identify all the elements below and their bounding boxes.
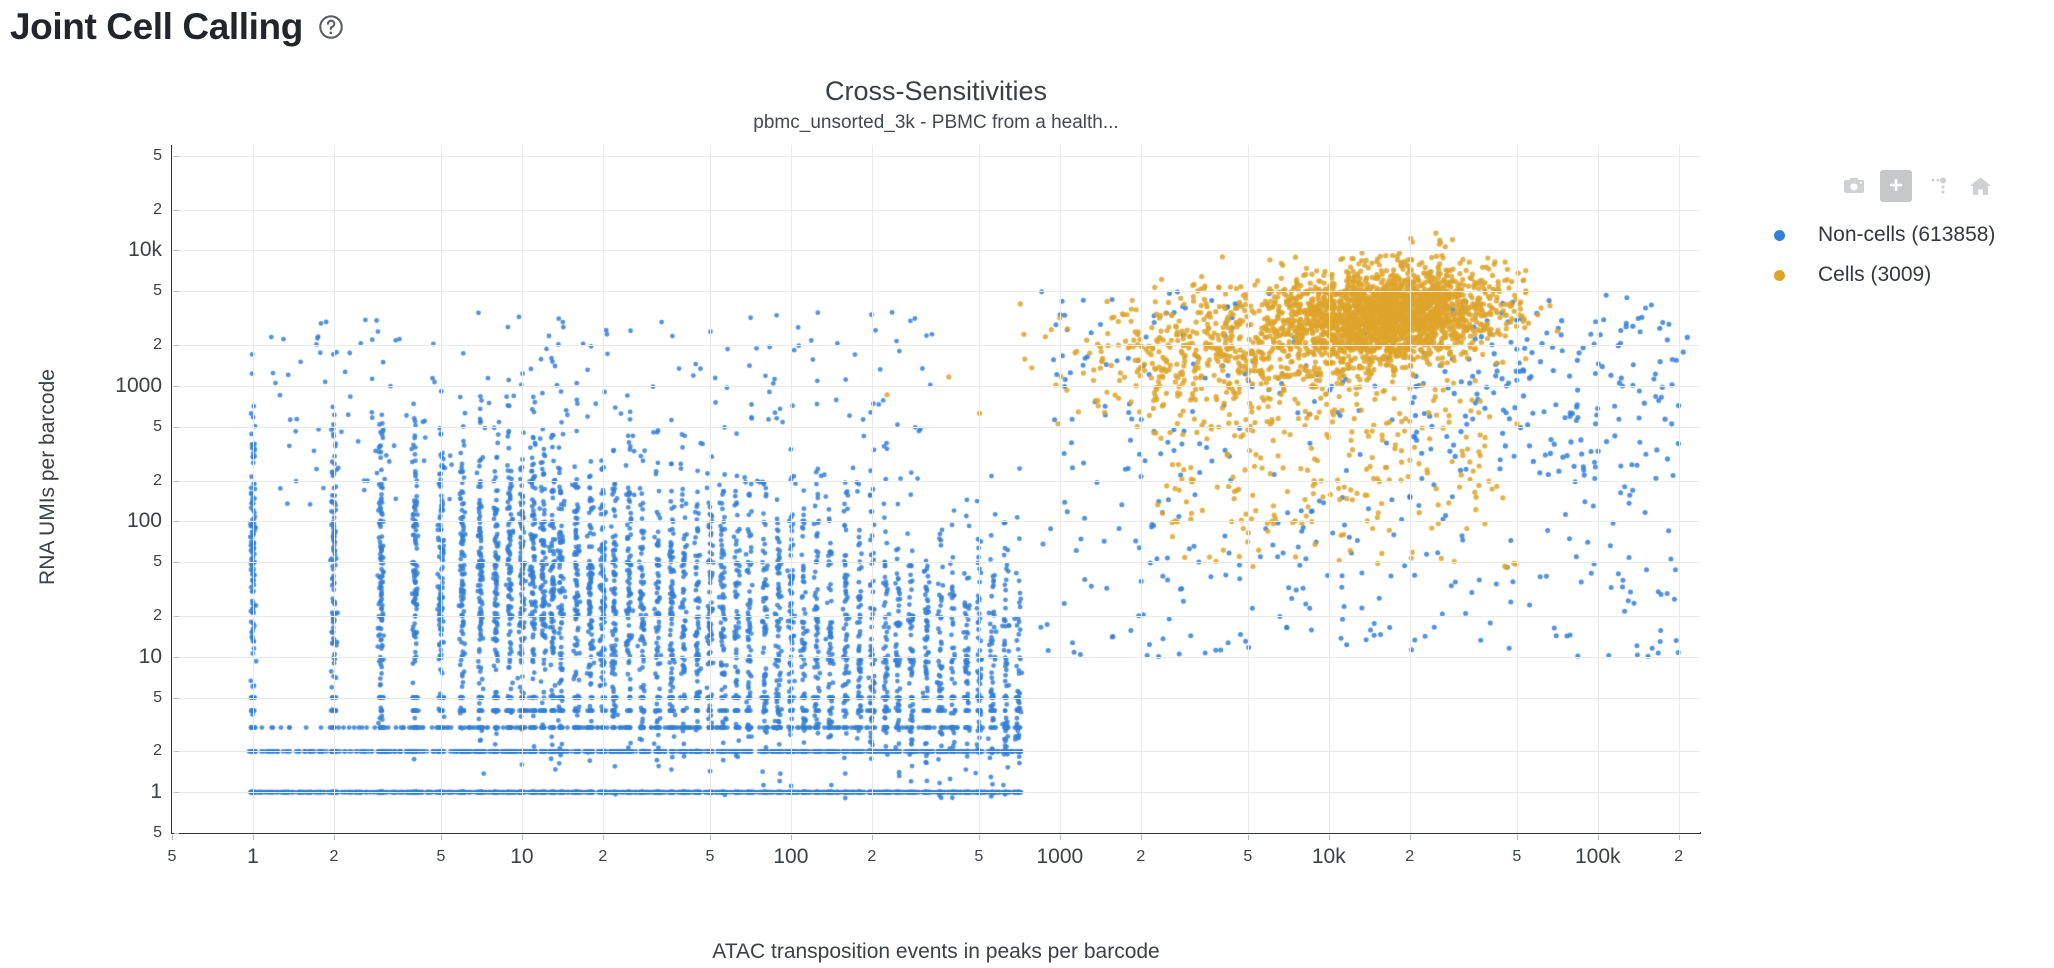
y-tick-mark (174, 345, 179, 346)
x-gridline (1410, 145, 1411, 833)
y-tick-mark (174, 427, 179, 428)
x-tick-label: 2 (598, 848, 607, 866)
y-tick-mark (174, 657, 179, 658)
x-tick-label: 5 (705, 848, 714, 866)
y-gridline (172, 698, 1700, 699)
x-tick-mark (1329, 835, 1330, 840)
page-title: Joint Cell Calling (10, 8, 303, 45)
x-tick-mark (979, 835, 980, 840)
x-tick-mark (1598, 835, 1599, 840)
x-gridline (1329, 145, 1330, 833)
plot-area[interactable] (172, 145, 1700, 833)
x-tick-mark (253, 835, 254, 840)
legend-label-cells: Cells (3009) (1818, 263, 1931, 287)
x-tick-mark (1141, 835, 1142, 840)
x-gridline (1248, 145, 1249, 833)
x-tick-label: 10 (510, 845, 533, 869)
x-tick-label: 2 (1136, 848, 1145, 866)
y-tick-mark (174, 210, 179, 211)
y-tick-mark (174, 616, 179, 617)
legend-item-cells[interactable]: Cells (3009) (1770, 255, 1995, 295)
y-tick-label: 5 (153, 824, 162, 842)
y-gridline (172, 250, 1700, 251)
y-gridline (172, 345, 1700, 346)
x-tick-label: 1 (247, 845, 259, 869)
x-tick-mark (791, 835, 792, 840)
y-tick-mark (174, 386, 179, 387)
x-tick-label: 10k (1312, 845, 1346, 869)
x-gridline (441, 145, 442, 833)
x-tick-label: 5 (437, 848, 446, 866)
legend-item-non-cells[interactable]: Non-cells (613858) (1770, 215, 1995, 255)
y-gridline (172, 751, 1700, 752)
x-gridline (1598, 145, 1599, 833)
zoom-in-button[interactable] (1880, 170, 1912, 202)
x-tick-mark (1248, 835, 1249, 840)
y-axis-title: RNA UMIs per barcode (36, 347, 60, 607)
x-tick-mark (334, 835, 335, 840)
y-gridline (172, 427, 1700, 428)
page-header: Joint Cell Calling (10, 8, 345, 45)
y-gridline (172, 616, 1700, 617)
y-tick-mark (174, 521, 179, 522)
y-tick-label: 5 (153, 418, 162, 436)
y-tick-label: 2 (153, 201, 162, 219)
x-tick-label: 5 (1512, 848, 1521, 866)
y-gridline (172, 657, 1700, 658)
x-tick-mark (1060, 835, 1061, 840)
y-tick-mark (174, 156, 179, 157)
cross-sensitivities-plot: Cross-Sensitivities pbmc_unsorted_3k - P… (0, 60, 2054, 968)
x-gridline (979, 145, 980, 833)
x-gridline (522, 145, 523, 833)
x-tick-mark (872, 835, 873, 840)
y-tick-mark (174, 792, 179, 793)
x-gridline (1141, 145, 1142, 833)
y-tick-mark (174, 481, 179, 482)
y-gridline (172, 562, 1700, 563)
x-gridline (334, 145, 335, 833)
plot-modebar (1838, 170, 1996, 202)
y-tick-mark (174, 562, 179, 563)
x-tick-label: 5 (168, 848, 177, 866)
question-circle-icon[interactable] (317, 13, 345, 41)
y-tick-label: 1000 (115, 374, 162, 398)
y-tick-label: 100 (127, 509, 162, 533)
x-tick-label: 2 (1405, 848, 1414, 866)
x-tick-mark (710, 835, 711, 840)
x-tick-label: 2 (1674, 848, 1683, 866)
y-tick-label: 5 (153, 553, 162, 571)
x-gridline (872, 145, 873, 833)
x-tick-label: 100 (773, 845, 808, 869)
x-gridline (1679, 145, 1680, 833)
autoscale-icon-button[interactable] (1922, 170, 1954, 202)
y-tick-label: 5 (153, 689, 162, 707)
x-tick-mark (522, 835, 523, 840)
y-gridline (172, 210, 1700, 211)
y-tick-label: 5 (153, 147, 162, 165)
y-gridline (172, 291, 1700, 292)
x-tick-label: 5 (974, 848, 983, 866)
y-tick-mark (174, 751, 179, 752)
x-gridline (791, 145, 792, 833)
home-icon-button[interactable] (1964, 170, 1996, 202)
y-gridline (172, 481, 1700, 482)
y-tick-label: 2 (153, 336, 162, 354)
y-tick-mark (174, 833, 179, 834)
legend-swatch-non-cells (1774, 230, 1785, 241)
x-gridline (710, 145, 711, 833)
y-gridline (172, 521, 1700, 522)
legend-swatch-cells (1774, 270, 1785, 281)
x-tick-mark (441, 835, 442, 840)
y-tick-label: 1 (150, 780, 162, 804)
y-tick-label: 5 (153, 282, 162, 300)
x-tick-label: 100k (1575, 845, 1621, 869)
y-gridline (172, 792, 1700, 793)
x-gridline (1060, 145, 1061, 833)
x-tick-label: 2 (329, 848, 338, 866)
y-tick-label: 2 (153, 607, 162, 625)
y-tick-label: 10k (128, 238, 162, 262)
x-gridline (1517, 145, 1518, 833)
x-tick-mark (1679, 835, 1680, 840)
y-tick-label: 10 (139, 645, 162, 669)
x-gridline (253, 145, 254, 833)
download-plot-png-button[interactable] (1838, 170, 1870, 202)
chart-title: Cross-Sensitivities (172, 76, 1700, 107)
y-tick-mark (174, 698, 179, 699)
x-tick-mark (1517, 835, 1518, 840)
x-tick-label: 5 (1243, 848, 1252, 866)
plot-legend: Non-cells (613858)Cells (3009) (1770, 215, 1995, 295)
x-tick-mark (1410, 835, 1411, 840)
y-tick-mark (174, 250, 179, 251)
legend-label-non-cells: Non-cells (613858) (1818, 223, 1995, 247)
x-gridline (603, 145, 604, 833)
scatter-canvas[interactable] (172, 145, 1700, 833)
x-tick-mark (172, 835, 173, 840)
y-gridline (172, 156, 1700, 157)
x-tick-label: 2 (867, 848, 876, 866)
y-tick-label: 2 (153, 472, 162, 490)
y-gridline (172, 386, 1700, 387)
y-tick-label: 2 (153, 742, 162, 760)
x-axis-title: ATAC transposition events in peaks per b… (172, 940, 1700, 964)
x-tick-mark (603, 835, 604, 840)
y-tick-mark (174, 291, 179, 292)
chart-subtitle: pbmc_unsorted_3k - PBMC from a health... (172, 112, 1700, 134)
x-tick-label: 1000 (1036, 845, 1083, 869)
